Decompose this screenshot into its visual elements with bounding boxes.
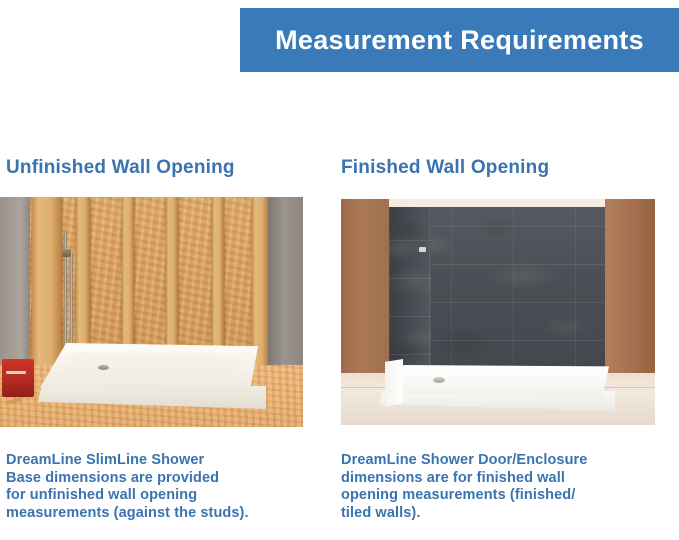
page-title: Measurement Requirements [275, 25, 644, 56]
wall-stud [252, 197, 268, 369]
photo-finished-wall-opening [341, 199, 655, 425]
section-heading-finished: Finished Wall Opening [341, 157, 549, 179]
caption-line: Base dimensions are provided [6, 470, 306, 488]
wall-stud [32, 197, 62, 369]
section-heading-unfinished: Unfinished Wall Opening [6, 157, 235, 179]
shower-drain [433, 377, 445, 383]
wall-stud [212, 197, 224, 369]
wall-stud [122, 197, 134, 369]
shower-valve-trim [419, 247, 426, 252]
photo-unfinished-wall-opening [0, 197, 303, 427]
wall-stud [166, 197, 178, 369]
right-painted-wall [605, 199, 655, 381]
caption-line: measurements (against the studs). [6, 505, 306, 523]
caption-line: opening measurements (finished/ [341, 487, 661, 505]
header-banner: Measurement Requirements [240, 8, 679, 72]
shower-drain [98, 365, 109, 370]
tool-box-handle [6, 371, 26, 374]
caption-finished: DreamLine Shower Door/Enclosure dimensio… [341, 452, 661, 522]
caption-line: DreamLine SlimLine Shower [6, 452, 306, 470]
caption-line: dimensions are for finished wall [341, 470, 661, 488]
unfinished-wall-scene [0, 197, 303, 427]
shower-base-basin [52, 352, 242, 386]
tool-box [2, 359, 34, 397]
caption-unfinished: DreamLine SlimLine Shower Base dimension… [6, 452, 306, 522]
left-painted-wall [341, 199, 389, 377]
pipe-fitting [62, 249, 71, 257]
caption-line: DreamLine Shower Door/Enclosure [341, 452, 661, 470]
caption-line: tiled walls). [341, 505, 661, 523]
shower-base-side-curb [385, 359, 403, 407]
measurement-requirements-page: { "banner": { "title": "Measurement Requ… [0, 0, 679, 540]
finished-wall-scene [341, 199, 655, 425]
caption-line: for unfinished wall opening [6, 487, 306, 505]
